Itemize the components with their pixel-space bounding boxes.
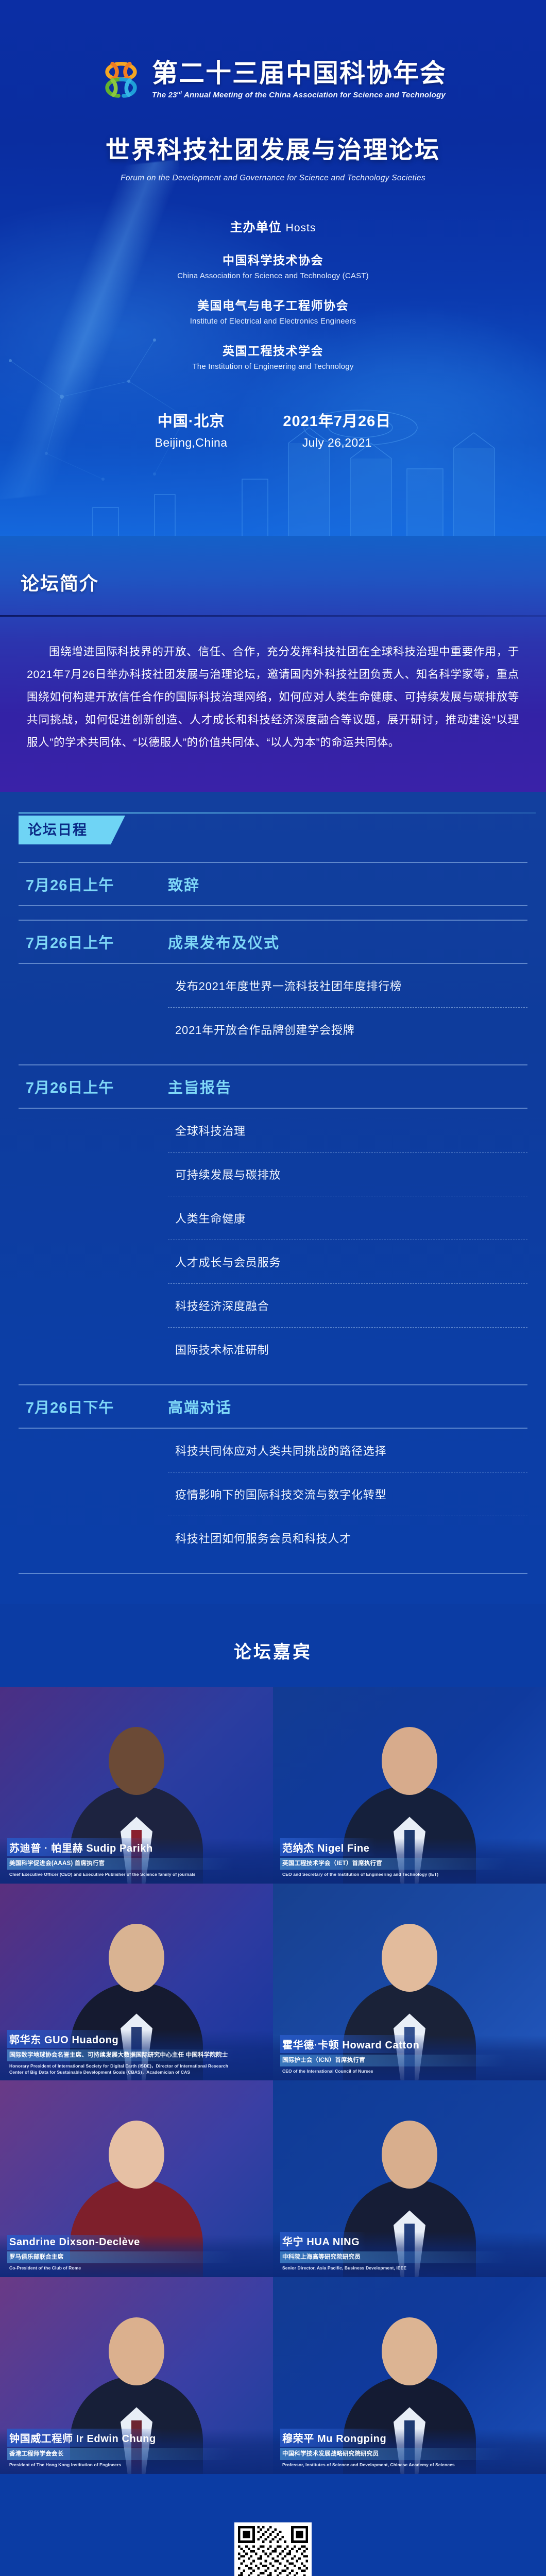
guest-info-overlay: 郭华东 GUO Huadong 国际数字地球协会名誉主席、可持续发展大数据国际研… (0, 2030, 273, 2080)
guest-role-en: CEO and Secretary of the Institution of … (280, 1870, 512, 1877)
agenda-item: 全球科技治理 (168, 1109, 527, 1153)
agenda-block-header: 7月26日上午 主旨报告 (19, 1064, 527, 1109)
agenda-block: 7月26日下午 高端对话 科技共同体应对人类共同挑战的路径选择 疫情影响下的国际… (19, 1384, 527, 1560)
guest-role-cn: 英国工程技术学会（IET）首席执行官 (280, 1858, 507, 1870)
date-block: 2021年7月26日 July 26,2021 (283, 409, 391, 450)
guest-role-en: Honorary President of International Soci… (7, 2061, 239, 2076)
guest-info-overlay: Sandrine Dixson-Declève 罗马俱乐部联合主席 Co-Pre… (0, 2235, 273, 2277)
host-name-en: China Association for Science and Techno… (0, 272, 546, 280)
guest-role-cn: 美国科学促进会(AAAS) 首席执行官 (7, 1858, 234, 1870)
hosts-label: 主办单位Hosts (0, 217, 546, 235)
guest-card: 华宁 HUA NING 中科院上海高等研究院研究员 Senior Directo… (273, 2080, 546, 2277)
venue-en: Beijing,China (155, 436, 228, 450)
guest-card: 苏迪普 · 帕里赫 Sudip Parikh 美国科学促进会(AAAS) 首席执… (0, 1687, 273, 1884)
registration-qr-section: 二维码报名入口 (0, 2495, 546, 2576)
conference-logo-subtitle: The 23rd Annual Meeting of the China Ass… (152, 91, 447, 99)
guest-card: 钟国威工程师 Ir Edwin Chung 香港工程师学会会长 Presiden… (0, 2277, 273, 2474)
agenda-bottom-rule (19, 1573, 527, 1574)
conference-logo-title: 第二十三届中国科协年会 (152, 60, 447, 86)
guest-card: 穆荣平 Mu Rongping 中国科学技术发展战略研究院研究员 Profess… (273, 2277, 546, 2474)
logo-en-pre: The 23 (152, 91, 177, 99)
guest-grid: 苏迪普 · 帕里赫 Sudip Parikh 美国科学促进会(AAAS) 首席执… (0, 1687, 546, 2474)
host-name-cn: 中国科学技术协会 (0, 250, 546, 268)
guest-info-overlay: 范纳杰 Nigel Fine 英国工程技术学会（IET）首席执行官 CEO an… (273, 1838, 546, 1884)
agenda-session-name: 致辞 (168, 873, 200, 895)
agenda-time: 7月26日上午 (19, 931, 168, 953)
agenda-item: 科技共同体应对人类共同挑战的路径选择 (168, 1429, 527, 1472)
guest-role-cn: 中国科学技术发展战略研究院研究员 (280, 2448, 507, 2460)
agenda-session-name: 高端对话 (168, 1396, 232, 1417)
agenda-item: 可持续发展与碳排放 (168, 1153, 527, 1196)
qr-code-icon[interactable] (238, 2526, 308, 2576)
logo-en-post: Annual Meeting of the China Association … (182, 91, 446, 99)
agenda-block: 7月26日上午 成果发布及仪式 发布2021年度世界一流科技社团年度排行榜 20… (19, 920, 527, 1051)
agenda-block: 7月26日上午 主旨报告 全球科技治理 可持续发展与碳排放 人类生命健康 人才成… (19, 1064, 527, 1371)
guest-name: 钟国威工程师 Ir Edwin Chung (7, 2429, 162, 2447)
host-organization: 美国电气与电子工程师协会 Institute of Electrical and… (0, 296, 546, 326)
agenda-block-header: 7月26日下午 高端对话 (19, 1384, 527, 1429)
agenda-time: 7月26日上午 (19, 1076, 168, 1097)
agenda-item: 人才成长与会员服务 (168, 1240, 527, 1284)
agenda-item-list: 科技共同体应对人类共同挑战的路径选择 疫情影响下的国际科技交流与数字化转型 科技… (19, 1429, 527, 1560)
agenda-title-rule (19, 812, 536, 814)
agenda-item: 科技社团如何服务会员和科技人才 (168, 1516, 527, 1560)
guest-name: 苏迪普 · 帕里赫 Sudip Parikh (7, 1838, 159, 1856)
agenda-item-list: 发布2021年度世界一流科技社团年度排行榜 2021年开放合作品牌创建学会授牌 (19, 964, 527, 1051)
guest-name: 范纳杰 Nigel Fine (280, 1838, 376, 1856)
guest-name: Sandrine Dixson-Declève (7, 2235, 146, 2250)
agenda-block-header: 7月26日上午 成果发布及仪式 (19, 920, 527, 964)
guest-card: Sandrine Dixson-Declève 罗马俱乐部联合主席 Co-Pre… (0, 2080, 273, 2277)
host-organization: 英国工程技术学会 The Institution of Engineering … (0, 341, 546, 371)
guest-info-overlay: 霍华德·卡顿 Howard Catton 国际护士会（ICN）首席执行官 CEO… (273, 2035, 546, 2080)
skyline-silhouette-decoration (0, 366, 546, 536)
logo-en-ordinal: rd (177, 90, 182, 95)
guest-info-overlay: 钟国威工程师 Ir Edwin Chung 香港工程师学会会长 Presiden… (0, 2429, 273, 2474)
guest-info-overlay: 苏迪普 · 帕里赫 Sudip Parikh 美国科学促进会(AAAS) 首席执… (0, 1838, 273, 1884)
guest-role-cn: 香港工程师学会会长 (7, 2448, 234, 2460)
guest-info-overlay: 穆荣平 Mu Rongping 中国科学技术发展战略研究院研究员 Profess… (273, 2429, 546, 2474)
guest-name: 霍华德·卡顿 Howard Catton (280, 2035, 425, 2053)
guest-name: 华宁 HUA NING (280, 2232, 366, 2250)
guest-role-en: Professor, Institutes of Science and Dev… (280, 2460, 512, 2468)
host-name-en: The Institution of Engineering and Techn… (0, 362, 546, 371)
agenda-item: 2021年开放合作品牌创建学会授牌 (168, 1008, 527, 1051)
guest-name: 穆荣平 Mu Rongping (280, 2429, 393, 2447)
guest-role-en: Chief Executive Officer (CEO) and Execut… (7, 1870, 239, 1877)
hero-section: 第二十三届中国科协年会 The 23rd Annual Meeting of t… (0, 0, 546, 536)
section-title-guests: 论坛嘉宾 (0, 1638, 546, 1663)
agenda-item: 国际技术标准研制 (168, 1328, 527, 1371)
agenda-session-name: 成果发布及仪式 (168, 931, 280, 953)
guest-role-en: Co-President of the Club of Rome (7, 2263, 239, 2271)
guest-name: 郭华东 GUO Huadong (7, 2030, 125, 2048)
agenda-item: 疫情影响下的国际科技交流与数字化转型 (168, 1472, 527, 1516)
qr-code[interactable] (234, 2522, 312, 2576)
guest-role-en: Senior Director, Asia Pacific, Business … (280, 2263, 512, 2271)
guest-card: 霍华德·卡顿 Howard Catton 国际护士会（ICN）首席执行官 CEO… (273, 1884, 546, 2080)
guest-card: 郭华东 GUO Huadong 国际数字地球协会名誉主席、可持续发展大数据国际研… (0, 1884, 273, 2080)
hosts-label-en: Hosts (286, 222, 316, 234)
venue-block: 中国·北京 Beijing,China (155, 409, 228, 450)
host-name-en: Institute of Electrical and Electronics … (0, 317, 546, 326)
venue-cn: 中国·北京 (155, 409, 228, 431)
forum-introduction-section: 论坛简介 围绕增进国际科技界的开放、信任、合作，充分发挥科技社团在全球科技治理中… (0, 536, 546, 792)
guest-role-cn: 中科院上海高等研究院研究员 (280, 2251, 507, 2263)
hosts-label-cn: 主办单位 (230, 221, 282, 234)
cast-logo-icon (99, 58, 143, 101)
guest-role-cn: 国际数字地球协会名誉主席、可持续发展大数据国际研究中心主任 中国科学院院士 (7, 2049, 234, 2061)
intro-title-bar: 论坛简介 (0, 554, 546, 613)
agenda-item: 人类生命健康 (168, 1196, 527, 1240)
poster-page: 第二十三届中国科协年会 The 23rd Annual Meeting of t… (0, 0, 546, 2576)
section-title-intro: 论坛简介 (21, 569, 546, 596)
conference-logo-band: 第二十三届中国科协年会 The 23rd Annual Meeting of t… (0, 0, 546, 101)
host-organization: 中国科学技术协会 China Association for Science a… (0, 250, 546, 280)
date-en: July 26,2021 (283, 436, 391, 450)
agenda-block: 7月26日上午 致辞 (19, 862, 527, 906)
venue-and-date: 中国·北京 Beijing,China 2021年7月26日 July 26,2… (0, 409, 546, 450)
guest-role-en: CEO of the International Council of Nurs… (280, 2066, 512, 2074)
section-title-agenda: 论坛日程 (19, 816, 111, 844)
agenda-session-name: 主旨报告 (168, 1076, 232, 1097)
agenda-title-tag-wrap: 论坛日程 (19, 816, 546, 844)
agenda-block-header: 7月26日上午 致辞 (19, 862, 527, 906)
agenda-item-list: 全球科技治理 可持续发展与碳排放 人类生命健康 人才成长与会员服务 科技经济深度… (19, 1109, 527, 1371)
intro-body-text: 围绕增进国际科技界的开放、信任、合作，充分发挥科技社团在全球科技治理中重要作用，… (0, 617, 546, 759)
agenda-time: 7月26日上午 (19, 873, 168, 895)
guest-info-overlay: 华宁 HUA NING 中科院上海高等研究院研究员 Senior Directo… (273, 2232, 546, 2277)
agenda-time: 7月26日下午 (19, 1396, 168, 1417)
host-name-cn: 英国工程技术学会 (0, 341, 546, 359)
guest-role-cn: 国际护士会（ICN）首席执行官 (280, 2055, 507, 2066)
date-cn: 2021年7月26日 (283, 409, 391, 431)
guest-role-en: President of The Hong Kong Institution o… (7, 2460, 239, 2468)
page-subtitle: Forum on the Development and Governance … (0, 174, 546, 183)
guest-role-cn: 罗马俱乐部联合主席 (7, 2251, 234, 2263)
agenda-item: 科技经济深度融合 (168, 1284, 527, 1328)
guests-section: 论坛嘉宾 苏迪普 · 帕里赫 Sudip Parikh 美国科学促进会(AAAS… (0, 1604, 546, 2495)
guest-card: 范纳杰 Nigel Fine 英国工程技术学会（IET）首席执行官 CEO an… (273, 1687, 546, 1884)
page-title: 世界科技社团发展与治理论坛 (0, 130, 546, 165)
agenda-table: 7月26日上午 致辞 7月26日上午 成果发布及仪式 发布2021年度世界一流科… (19, 862, 527, 1560)
host-name-cn: 美国电气与电子工程师协会 (0, 296, 546, 313)
agenda-section: 论坛日程 7月26日上午 致辞 7月26日上午 成果发布及仪式 发布2021年度… (0, 792, 546, 1604)
agenda-item: 发布2021年度世界一流科技社团年度排行榜 (168, 964, 527, 1008)
